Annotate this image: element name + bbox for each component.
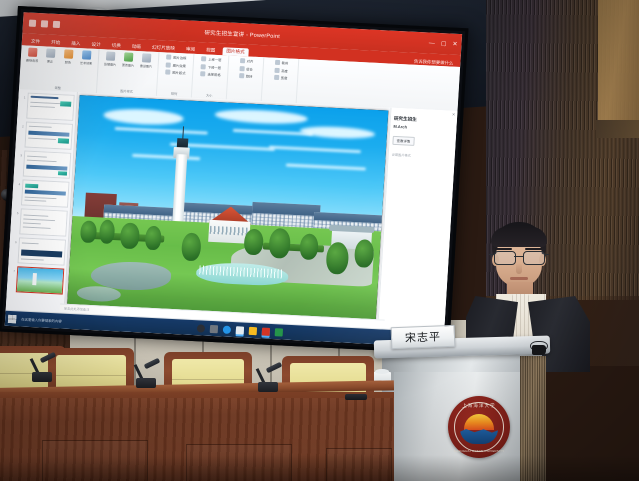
current-slide[interactable] [67, 95, 389, 326]
slide-thumbnail[interactable] [26, 93, 75, 121]
speaker-brow-left [495, 248, 512, 250]
ribbon-group-arrange: 图片边框 图片效果 图片版式 排列 [157, 52, 195, 98]
university-emblem: 上海海洋大学 SHANGHAI OCEAN UNIVERSITY [448, 396, 510, 458]
slide-thumbnail[interactable] [19, 208, 68, 236]
ribbon-group-align: 对齐 组合 旋转 [227, 56, 265, 102]
group-label-picture-styles: 图片样式 [120, 88, 133, 94]
picture-effects-icon [166, 62, 171, 67]
rotate-icon [239, 73, 244, 78]
picture-layout-icon [165, 69, 170, 74]
slide-thumbnail[interactable] [18, 237, 67, 265]
restore-icon[interactable]: ▢ [441, 40, 447, 47]
desk-mic-3 [258, 364, 284, 392]
powerpoint-window[interactable]: 研究生招生宣讲 - PowerPoint — ▢ ✕ 文件 开始 插入 设计 切… [5, 12, 462, 347]
group-icon [239, 66, 244, 71]
windows-start-icon[interactable] [8, 314, 16, 322]
list-item[interactable]: 3 [16, 150, 72, 179]
speaker-nose [516, 263, 522, 274]
rotate-item[interactable]: 旋转 [239, 73, 253, 79]
podium-side-slats [520, 356, 546, 481]
picture-layout-item[interactable]: 图片版式 [165, 69, 185, 75]
align-item[interactable]: 对齐 [240, 58, 254, 64]
nameplate: 宋志平 [391, 325, 456, 349]
file-explorer-icon[interactable] [235, 326, 243, 334]
send-backward-icon [201, 64, 206, 69]
taskbar-search-input[interactable]: 在这里输入你要搜索的内容 [21, 317, 62, 324]
ppt-workspace: 1 2 [6, 89, 458, 332]
desk-panel-2 [186, 444, 292, 481]
speaker-fringe [491, 227, 547, 247]
format-task-pane[interactable]: ✕ 研究生招生 M.Arch 查看详情 设置图片格式 [377, 108, 457, 333]
pane-note: 设置图片格式 [392, 152, 452, 160]
desk-mic-1 [32, 354, 58, 382]
list-item[interactable]: 4 [14, 179, 70, 208]
list-item[interactable]: 5 [12, 208, 68, 237]
height-icon [274, 67, 279, 72]
desk-panel-3 [326, 448, 392, 481]
bring-forward-item[interactable]: 上移一层 [201, 56, 221, 62]
remove-background-icon[interactable]: 删除背景 [25, 47, 41, 63]
ribbon-group-size: 上移一层 下移一层 选择窗格 大小 [192, 54, 230, 100]
slide-canvas[interactable] [65, 92, 391, 329]
group-label-arrange: 排列 [171, 91, 178, 96]
table-control-device [345, 394, 367, 400]
window-controls[interactable]: — ▢ ✕ [429, 39, 458, 47]
artistic-effects-icon[interactable]: 艺术效果 [79, 50, 95, 66]
picture-border-icon [166, 54, 171, 59]
right-wall-light-panel [598, 0, 639, 122]
group-label-size: 大小 [206, 92, 213, 97]
slide-thumbnail[interactable] [24, 122, 73, 150]
speaker-mouth [510, 277, 528, 280]
reset-picture-icon[interactable]: 重设图片 [138, 53, 154, 69]
width-icon [274, 75, 279, 80]
group-label-adjust: 调整 [54, 85, 61, 90]
minimize-icon[interactable]: — [429, 40, 435, 46]
crop-item[interactable]: 裁剪 [275, 60, 289, 66]
pane-button[interactable]: 查看详情 [392, 136, 414, 146]
slide-thumbnail[interactable] [21, 179, 70, 207]
change-picture-icon[interactable]: 更改图片 [121, 52, 137, 68]
desk-mic-2 [136, 360, 162, 388]
taskbar-apps[interactable] [196, 324, 282, 336]
ribbon-group-picture-styles: 压缩图片 更改图片 重设图片 图片样式 [97, 49, 160, 96]
speaker-brow-right [525, 248, 542, 250]
wechat-icon[interactable] [274, 328, 282, 336]
list-item[interactable]: 7 [9, 266, 65, 295]
projection-screen: 研究生招生宣讲 - PowerPoint — ▢ ✕ 文件 开始 插入 设计 切… [0, 6, 462, 348]
emblem-english-name: SHANGHAI OCEAN UNIVERSITY [448, 449, 510, 453]
powerpoint-icon[interactable] [261, 327, 269, 335]
close-icon[interactable]: ✕ [452, 41, 457, 48]
store-icon[interactable] [248, 326, 256, 334]
pane-subtitle: M.Arch [393, 124, 453, 132]
selection-pane-item[interactable]: 选择窗格 [200, 71, 220, 77]
desk-panel-1 [42, 440, 148, 481]
ribbon-group-crop: 裁剪 高度 宽度 [262, 57, 300, 103]
nameplate-text: 宋志平 [405, 328, 442, 345]
screen-frame: 研究生招生宣讲 - PowerPoint — ▢ ✕ 文件 开始 插入 设计 切… [0, 6, 468, 354]
cortana-icon[interactable] [196, 324, 204, 332]
edge-icon[interactable] [222, 325, 230, 333]
close-icon[interactable]: ✕ [452, 112, 456, 117]
selection-pane-icon [200, 71, 205, 76]
align-icon [240, 58, 245, 63]
podium-microphone-icon [530, 340, 547, 355]
send-backward-item[interactable]: 下移一层 [201, 64, 221, 70]
slide-thumbnail-selected[interactable] [16, 266, 65, 294]
list-item[interactable]: 2 [18, 121, 74, 150]
height-item[interactable]: 高度 [274, 67, 288, 73]
color-icon[interactable]: 颜色 [61, 49, 77, 65]
picture-effects-item[interactable]: 图片效果 [166, 62, 186, 68]
right-wall-trim [596, 120, 639, 138]
compress-picture-icon[interactable]: 压缩图片 [103, 51, 119, 67]
conference-hall-photo: 研究生招生宣讲 - PowerPoint — ▢ ✕ 文件 开始 插入 设计 切… [0, 0, 639, 481]
picture-border-item[interactable]: 图片边框 [166, 54, 186, 60]
group-item[interactable]: 组合 [239, 66, 253, 72]
corrections-icon[interactable]: 更正 [43, 48, 59, 64]
list-item[interactable]: 1 [19, 92, 75, 121]
slide-thumbnail[interactable] [23, 150, 72, 178]
ribbon-group-adjust: 删除背景 更正 颜色 [19, 45, 100, 93]
emblem-chinese-name: 上海海洋大学 [448, 403, 510, 409]
task-view-icon[interactable] [209, 324, 217, 332]
width-item[interactable]: 宽度 [274, 75, 288, 81]
podium: 上海海洋大学 SHANGHAI OCEAN UNIVERSITY 宋志平 [374, 338, 550, 481]
crop-icon [275, 60, 280, 65]
bring-forward-icon [201, 56, 206, 61]
list-item[interactable]: 6 [11, 237, 67, 266]
